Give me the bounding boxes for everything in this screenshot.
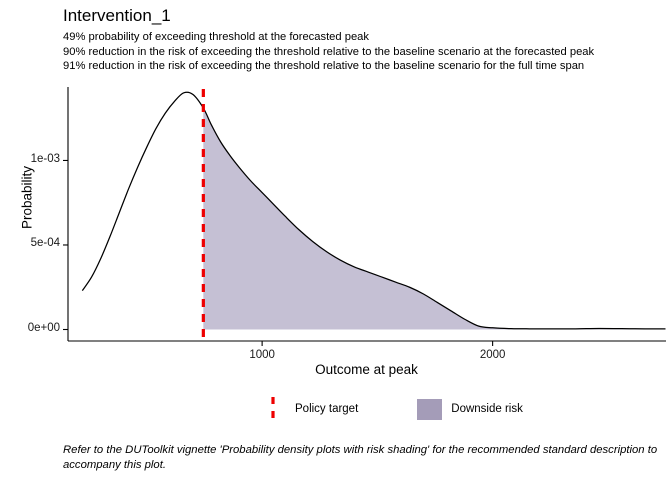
figure-caption: Refer to the DUToolkit vignette 'Probabi… [63, 443, 667, 473]
chart-page: Intervention_1 49% probability of exceed… [0, 0, 672, 480]
legend-item-policy-target: Policy target [258, 394, 358, 424]
color-swatch-icon [414, 394, 444, 424]
legend-label-policy-target: Policy target [295, 403, 358, 415]
x-tick-label-1: 2000 [463, 349, 523, 361]
chart-legend: Policy target Downside risk [258, 392, 523, 426]
y-axis-title: Probability [20, 118, 35, 278]
dashed-line-icon [258, 394, 288, 424]
legend-label-downside-risk: Downside risk [451, 403, 523, 415]
y-tick-label-0: 0e+00 [6, 322, 60, 334]
downside-risk-swatch [417, 399, 442, 420]
x-tick-label-0: 1000 [232, 349, 292, 361]
x-axis-title: Outcome at peak [68, 362, 665, 377]
shaded-risk-region [203, 108, 665, 329]
legend-item-downside-risk: Downside risk [414, 394, 523, 424]
